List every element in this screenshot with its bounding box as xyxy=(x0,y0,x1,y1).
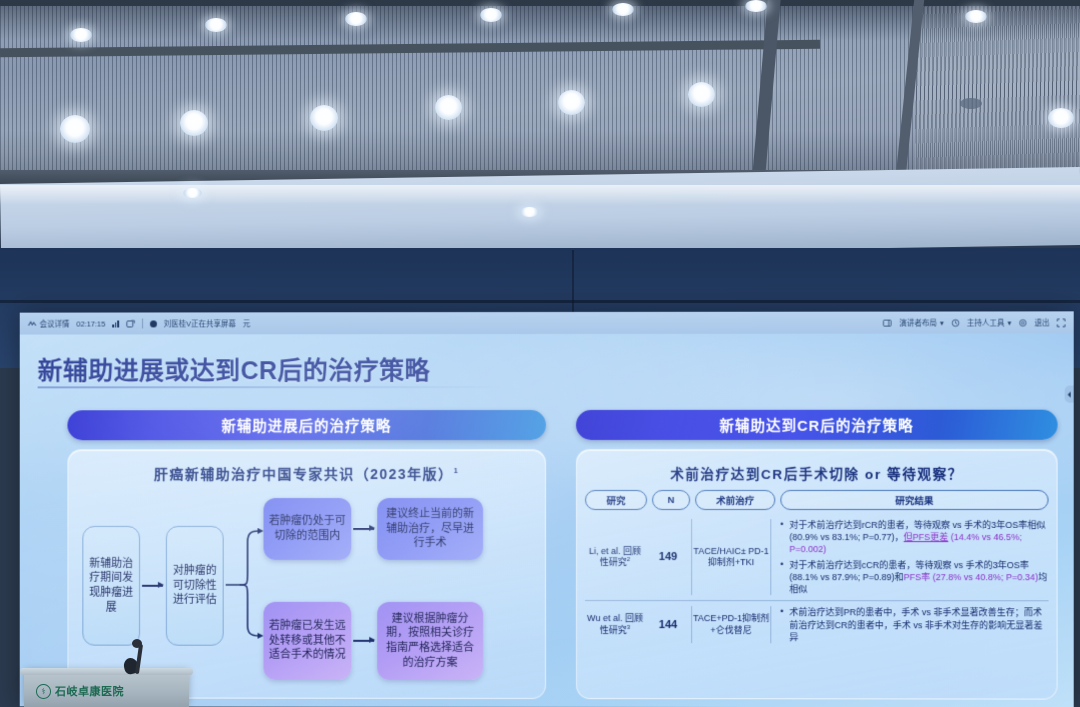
toolbar-divider xyxy=(142,318,143,328)
speaker-layout-label: 演讲者布局 xyxy=(899,317,937,328)
flow-node-resectable-condition: 若肿瘤仍处于可切除的范围内 xyxy=(264,498,352,560)
flow-branch-connector xyxy=(226,528,264,640)
result-bullet: 术前治疗达到PR的患者中，手术 vs 非手术显著改善生存；而术前治疗达到CR的患… xyxy=(780,607,1048,644)
exit-button[interactable]: 退出 xyxy=(1034,317,1049,328)
ceiling-light xyxy=(965,10,987,23)
screenshot-stage: 会议详情 02:17:15 刘医桂V正在共享屏幕 元 演讲者布局 ▾ xyxy=(0,0,1080,707)
ceiling-light xyxy=(60,115,90,143)
sharing-status-label: 刘医桂V正在共享屏幕 xyxy=(164,318,236,329)
consensus-subtitle-ref: 1 xyxy=(454,468,459,475)
host-tools-label: 主持人工具 xyxy=(967,317,1005,328)
ceiling-panel-right xyxy=(915,0,1080,177)
soffit-light xyxy=(520,207,539,217)
meeting-toolbar[interactable]: 会议详情 02:17:15 刘医桂V正在共享屏幕 元 演讲者布局 ▾ xyxy=(20,311,1074,334)
cell-pretreatment: TACE/HAIC± PD-1抑制剂+TKI xyxy=(691,519,771,596)
hospital-seal-icon: ⚕ xyxy=(36,684,51,699)
signal-bars-icon[interactable] xyxy=(112,320,118,328)
host-tools-button[interactable]: 主持人工具 ▾ xyxy=(967,317,1012,328)
table-header-row: 研究 N 术前治疗 研究结果 xyxy=(585,490,1049,510)
wall-edge xyxy=(0,300,1080,303)
wall-seam xyxy=(572,250,574,320)
layout-icon[interactable] xyxy=(883,318,892,327)
research-question: 术前治疗达到CR后手术切除 or 等待观察？ xyxy=(585,463,1049,483)
speaker-layout-button[interactable]: 演讲者布局 ▾ xyxy=(899,317,943,328)
right-panel: 新辅助达到CR后的治疗策略 术前治疗达到CR后手术切除 or 等待观察？ 研究 … xyxy=(576,410,1058,700)
flow-arrow-b xyxy=(353,640,374,642)
left-panel-header: 新辅助进展后的治疗策略 xyxy=(67,410,546,440)
cell-n: 144 xyxy=(650,606,686,643)
meeting-timer: 02:17:15 xyxy=(76,319,105,328)
fullscreen-icon[interactable] xyxy=(1057,318,1066,327)
ceiling-light xyxy=(1048,108,1074,128)
app-title-label: 会议详情 xyxy=(40,318,70,329)
table-row: Wu et al. 回顾性研究3 144 TACE+PD-1抑制剂+仑伐替尼 术… xyxy=(585,600,1049,648)
flow-node-assess: 对肿瘤的可切除性进行评估 xyxy=(166,526,224,646)
microphone-head xyxy=(132,639,142,648)
column-header-pretreatment: 术前治疗 xyxy=(695,490,775,510)
hospital-name: 石岐卓康医院 xyxy=(55,683,124,699)
cell-results: 术前治疗达到PR的患者中，手术 vs 非手术显著改善生存；而术前治疗达到CR的患… xyxy=(776,607,1048,644)
app-logo-and-title[interactable]: 会议详情 xyxy=(28,318,70,329)
study-name: Wu et al. 回顾性研究 xyxy=(587,613,643,635)
study-ref: 3 xyxy=(627,625,630,631)
share-screen-icon[interactable] xyxy=(126,319,135,328)
podium: ⚕ 石岐卓康医院 xyxy=(24,672,189,707)
ceiling-light xyxy=(612,3,634,16)
meeting-logo-icon xyxy=(28,319,37,328)
soffit-light xyxy=(183,188,202,198)
chevron-down-icon: ▾ xyxy=(940,318,944,327)
treatment-flowchart: 新辅助治疗期间发现肿瘤进展 对肿瘤的可切除性进行评估 若肿瘤仍处于可切除的 xyxy=(78,490,535,686)
clock-icon[interactable] xyxy=(951,318,960,327)
slide-canvas: 新辅助进展或达到CR后的治疗策略 新辅助进展后的治疗策略 肝癌新辅助治疗中国专家… xyxy=(20,333,1074,707)
ceiling-light xyxy=(688,82,715,107)
cell-study: Wu et al. 回顾性研究3 xyxy=(585,606,645,643)
column-header-study: 研究 xyxy=(585,490,647,510)
consensus-subtitle-text: 肝癌新辅助治疗中国专家共识（2023年版） xyxy=(154,466,454,482)
result-bullet: 对于术前治疗达到cCR的患者，等待观察 vs 手术的3年OS率 (88.1% v… xyxy=(780,559,1048,596)
consensus-subtitle: 肝癌新辅助治疗中国专家共识（2023年版）1 xyxy=(78,464,535,484)
flow-node-start: 新辅助治疗期间发现肿瘤进展 xyxy=(82,526,140,646)
toolbar-spacer xyxy=(257,323,876,324)
sharing-status-suffix: 元 xyxy=(243,318,250,329)
right-panel-header: 新辅助达到CR后的治疗策略 xyxy=(576,410,1058,440)
ceiling-light xyxy=(180,110,208,136)
cell-n: 149 xyxy=(650,519,686,595)
podium-top-edge xyxy=(20,668,193,675)
gear-icon[interactable] xyxy=(1018,318,1027,327)
soffit-glow xyxy=(0,185,1080,205)
result-bullet: 对于术前治疗达到rCR的患者，等待观察 vs 手术的3年OS率相似 (80.9%… xyxy=(780,519,1048,556)
flow-arrow-start-to-assess xyxy=(142,585,163,587)
ceiling-vent xyxy=(960,98,982,109)
slide-title: 新辅助进展或达到CR后的治疗策略 xyxy=(38,351,431,387)
cell-study: Li, et al. 回顾性研究2 xyxy=(585,519,645,595)
cell-pretreatment: TACE+PD-1抑制剂+仑伐替尼 xyxy=(691,606,771,643)
projected-screen: 会议详情 02:17:15 刘医桂V正在共享屏幕 元 演讲者布局 ▾ xyxy=(20,311,1074,707)
chevron-down-icon: ▾ xyxy=(1008,318,1012,327)
ceiling-light xyxy=(310,105,338,131)
flow-node-metastasis-action: 建议根据肿瘤分期，按照相关诊疗指南严格选择适合的治疗方案 xyxy=(377,602,483,680)
ceiling-light xyxy=(558,90,585,115)
flow-node-resectable-action: 建议终止当前的新辅助治疗，尽早进行手术 xyxy=(377,498,483,560)
column-header-n: N xyxy=(652,490,690,510)
ceiling-light xyxy=(435,95,462,120)
recording-icon xyxy=(150,320,157,327)
ceiling-light xyxy=(745,0,767,12)
ceiling-light xyxy=(345,12,367,26)
hospital-logo: ⚕ 石岐卓康医院 xyxy=(36,683,124,699)
table-row: Li, et al. 回顾性研究2 149 TACE/HAIC± PD-1抑制剂… xyxy=(585,514,1049,601)
study-ref: 2 xyxy=(627,557,630,563)
ceiling-light xyxy=(70,28,92,42)
ceiling-light xyxy=(480,8,502,22)
cell-results: 对于术前治疗达到rCR的患者，等待观察 vs 手术的3年OS率相似 (80.9%… xyxy=(776,519,1048,596)
right-panel-body: 术前治疗达到CR后手术切除 or 等待观察？ 研究 N 术前治疗 研究结果 Li… xyxy=(576,449,1058,700)
title-underline xyxy=(38,386,506,388)
ceiling-light xyxy=(205,18,227,32)
collapse-panel-icon[interactable] xyxy=(1065,386,1074,403)
study-name: Li, et al. 回顾性研究 xyxy=(589,546,641,568)
flow-node-metastasis-condition: 若肿瘤已发生远处转移或其他不适合手术的情况 xyxy=(264,602,352,680)
column-header-results: 研究结果 xyxy=(780,490,1048,510)
flow-arrow-a xyxy=(353,528,374,530)
